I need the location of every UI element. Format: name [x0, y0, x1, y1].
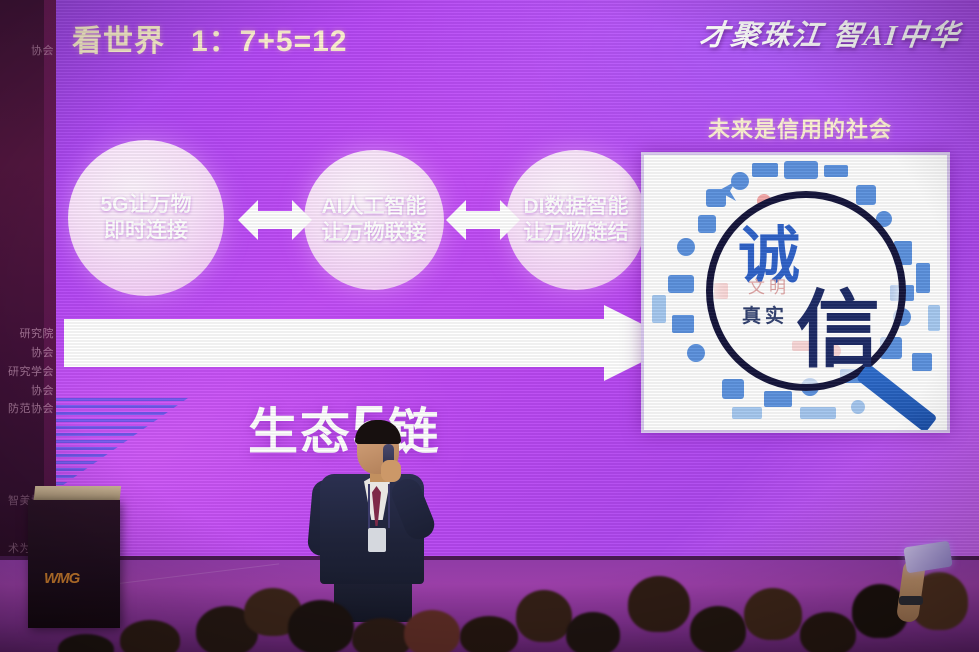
sponsor-line-6: 防范协会	[8, 400, 54, 416]
podium-logo: WMG	[44, 570, 79, 587]
audience-head	[352, 618, 412, 652]
circle-1-line-1: 5G让万物	[100, 192, 191, 218]
sponsor-line-3: 协会	[31, 344, 54, 360]
brand-slogan: 才聚珠江 智AI中华	[698, 12, 964, 54]
slide-title: 看世界1：7+5=12	[72, 16, 347, 60]
led-presentation-screen: 看世界1：7+5=12 才聚珠江 智AI中华 5G让万物 即时连接 AI人工智能…	[56, 0, 979, 556]
podium	[28, 500, 120, 628]
conference-photo: 协会 研究院 协会 研究学会 协会 防范协会 智美城市 术为量所 林科技 看世界…	[0, 0, 979, 652]
sponsor-line-2: 研究院	[20, 325, 55, 341]
circle-2-line-1: AI人工智能	[322, 194, 427, 220]
audience-head	[516, 590, 572, 642]
sponsor-line-5: 协会	[31, 382, 54, 398]
audience-head	[288, 600, 354, 652]
circle-1-line-2: 即时连接	[104, 218, 188, 244]
circle-2-line-2: 让万物联接	[322, 220, 427, 246]
word-wenming: 文明	[748, 273, 790, 298]
audience-head	[120, 620, 180, 652]
circle-3-line-2: 让万物链结	[524, 220, 629, 246]
ecology-chain-text: 生态5链	[248, 392, 440, 464]
big-right-arrow-icon	[64, 305, 680, 381]
concept-circle-ai: AI人工智能 让万物联接	[304, 150, 444, 290]
double-arrow-icon	[238, 198, 312, 242]
audience-head	[800, 612, 856, 652]
word-zhenshi: 真实	[742, 301, 788, 328]
audience-head	[404, 610, 460, 652]
speaker-hand	[381, 460, 401, 482]
audience-head	[566, 612, 620, 652]
wristwatch	[899, 596, 923, 605]
slide-title-equation: 1：7+5=12	[191, 25, 347, 58]
speaker-lanyard	[368, 484, 390, 528]
double-arrow-icon	[446, 198, 520, 242]
concept-circle-di: DI数据智能 让万物链结	[506, 150, 646, 290]
sponsor-line-1: 协会	[31, 42, 54, 58]
audience-head	[628, 576, 690, 632]
credit-illustration-panel: 诚 文明 真实 信	[641, 152, 950, 433]
concept-circle-5g: 5G让万物 即时连接	[68, 140, 224, 296]
audience-head	[744, 588, 802, 640]
slide-title-main: 看世界	[72, 25, 165, 58]
audience-head	[460, 616, 518, 652]
credit-society-headline: 未来是信用的社会	[650, 112, 950, 144]
speaker-badge	[368, 528, 386, 552]
audience-head	[690, 606, 746, 652]
eco-prefix: 生态	[248, 404, 352, 460]
sponsor-line-4: 研究学会	[8, 363, 54, 379]
circle-3-line-1: DI数据智能	[524, 194, 629, 220]
word-xin: 信	[796, 263, 880, 384]
